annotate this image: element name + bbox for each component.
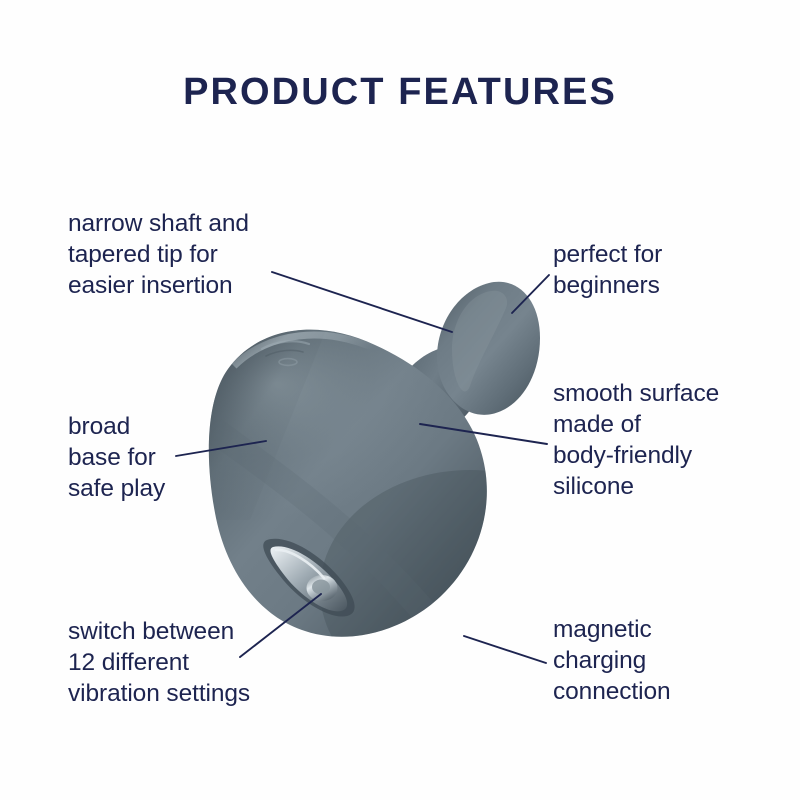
annotation-broad-base: broad base for safe play bbox=[68, 412, 165, 505]
leader-smooth-surface bbox=[420, 424, 547, 444]
tip-highlight bbox=[452, 291, 507, 392]
button-chrome bbox=[270, 546, 347, 611]
control-button bbox=[263, 539, 354, 617]
leader-magnetic-charging bbox=[464, 636, 546, 663]
annotation-narrow-shaft: narrow shaft and tapered tip for easier … bbox=[68, 209, 249, 302]
product-tapered-tip bbox=[437, 282, 540, 415]
base-rim-shadow bbox=[196, 320, 330, 520]
product-features-figure: PRODUCT FEATURES bbox=[0, 0, 800, 800]
annotation-smooth-surface: smooth surface made of body-friendly sil… bbox=[553, 379, 719, 502]
base-terminator bbox=[214, 430, 455, 655]
base-sheen bbox=[175, 315, 475, 545]
annotation-magnetic-charging: magnetic charging connection bbox=[553, 615, 671, 708]
button-glint bbox=[276, 550, 324, 578]
product-neck bbox=[404, 346, 482, 431]
annotation-perfect-beginners: perfect for beginners bbox=[553, 240, 662, 302]
leader-lines bbox=[176, 272, 549, 663]
product-broad-base bbox=[209, 330, 487, 637]
button-cap-inner bbox=[312, 580, 330, 595]
annotation-switch-vibration: switch between 12 different vibration se… bbox=[68, 617, 250, 710]
base-edge-light bbox=[234, 335, 378, 366]
leader-switch-vibration bbox=[240, 594, 321, 657]
leader-broad-base bbox=[176, 441, 266, 456]
brand-emboss-icon bbox=[262, 341, 309, 365]
leader-narrow-shaft bbox=[272, 272, 452, 332]
button-cap bbox=[307, 575, 338, 601]
button-recess bbox=[263, 539, 354, 617]
page-title: PRODUCT FEATURES bbox=[0, 72, 800, 114]
leader-perfect-beginners bbox=[512, 275, 549, 313]
